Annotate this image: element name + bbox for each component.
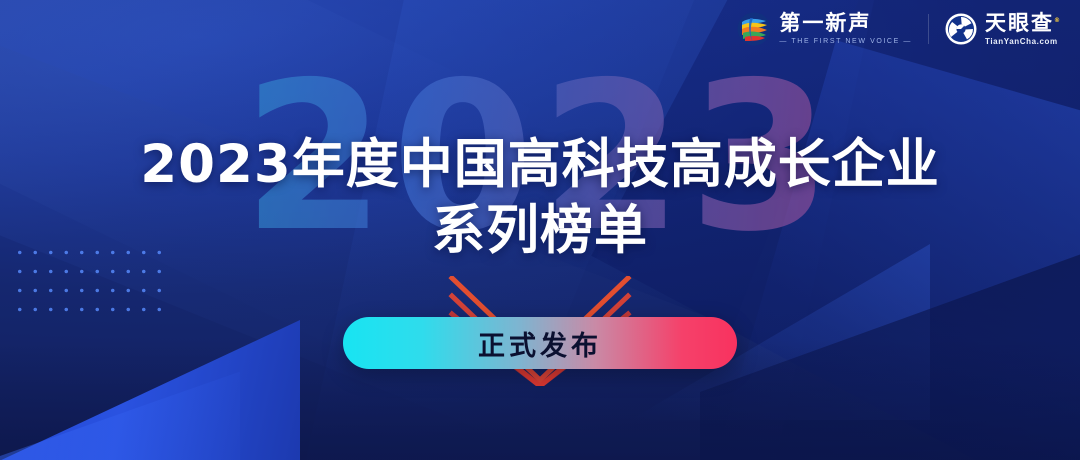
bg-triangle-bottom-left <box>0 320 300 460</box>
logo-divider <box>928 14 929 44</box>
ribbon-swoosh-icon <box>737 12 771 46</box>
banner-root: 2023 2023年度中国高科技高成长企业 系列榜单 正式发布 <box>0 0 1080 460</box>
bg-triangle-bottom-left-highlight <box>0 350 240 460</box>
title-line-2: 系列榜单 <box>0 199 1080 263</box>
logo-tianyancha-en: TianYanCha.com <box>985 38 1062 46</box>
logo-tianyancha-trademark: ® <box>1054 17 1062 24</box>
title-line-1: 2023年度中国高科技高成长企业 <box>0 133 1080 197</box>
logo-diyixinsheng-en: — THE FIRST NEW VOICE — <box>779 38 912 45</box>
logo-diyixinsheng-cn: 第一新声 <box>779 13 912 34</box>
logo-tianyancha-cn: 天眼查® <box>985 13 1062 34</box>
logo-tianyancha[interactable]: 天眼查® TianYanCha.com <box>945 13 1062 46</box>
release-status-pill[interactable]: 正式发布 <box>343 317 737 369</box>
page-title: 2023年度中国高科技高成长企业 系列榜单 <box>0 133 1080 263</box>
release-status-label: 正式发布 <box>478 324 602 363</box>
logo-tianyancha-cn-text: 天眼查 <box>985 11 1054 35</box>
eye-shutter-icon <box>945 13 977 45</box>
logo-bar: 第一新声 — THE FIRST NEW VOICE — 天眼查® <box>737 12 1062 46</box>
logo-diyixinsheng[interactable]: 第一新声 — THE FIRST NEW VOICE — <box>737 12 912 46</box>
